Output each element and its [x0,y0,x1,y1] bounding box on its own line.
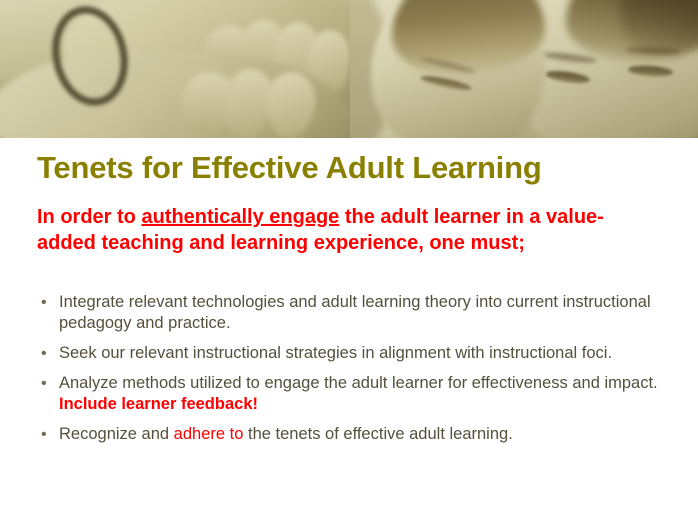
two-women-faces-photo [350,0,698,138]
emphasis-text: adhere to [174,425,244,443]
list-item: •Analyze methods utilized to engage the … [37,373,669,415]
emphasis-text: Include learner feedback! [59,395,258,413]
list-item-text: Seek our relevant instructional strategi… [59,343,669,364]
intro-text-underlined: authentically engage [141,206,339,228]
list-item-text: Integrate relevant technologies and adul… [59,292,669,334]
list-item: •Recognize and adhere to the tenets of e… [37,424,669,445]
plain-text: Analyze methods utilized to engage the a… [59,374,658,392]
plain-text: the tenets of effective adult learning. [243,425,512,443]
slide-body: Tenets for Effective Adult Learning In o… [0,138,698,523]
plain-text: Recognize and [59,425,174,443]
list-item: •Integrate relevant technologies and adu… [37,292,669,334]
plain-text: Integrate relevant technologies and adul… [59,293,651,332]
hands-on-desk-photo [0,0,350,138]
bullet-marker-icon: • [37,373,59,394]
bullet-marker-icon: • [37,292,59,313]
list-item: •Seek our relevant instructional strateg… [37,343,669,364]
plain-text: Seek our relevant instructional strategi… [59,344,612,362]
bullet-marker-icon: • [37,424,59,445]
bullet-list: •Integrate relevant technologies and adu… [37,292,669,454]
header-photo-band [0,0,698,138]
bullet-marker-icon: • [37,343,59,364]
list-item-text: Recognize and adhere to the tenets of ef… [59,424,669,445]
intro-text-before: In order to [37,206,141,228]
page-title: Tenets for Effective Adult Learning [37,150,542,186]
list-item-text: Analyze methods utilized to engage the a… [59,373,669,415]
intro-paragraph: In order to authentically engage the adu… [37,204,647,256]
